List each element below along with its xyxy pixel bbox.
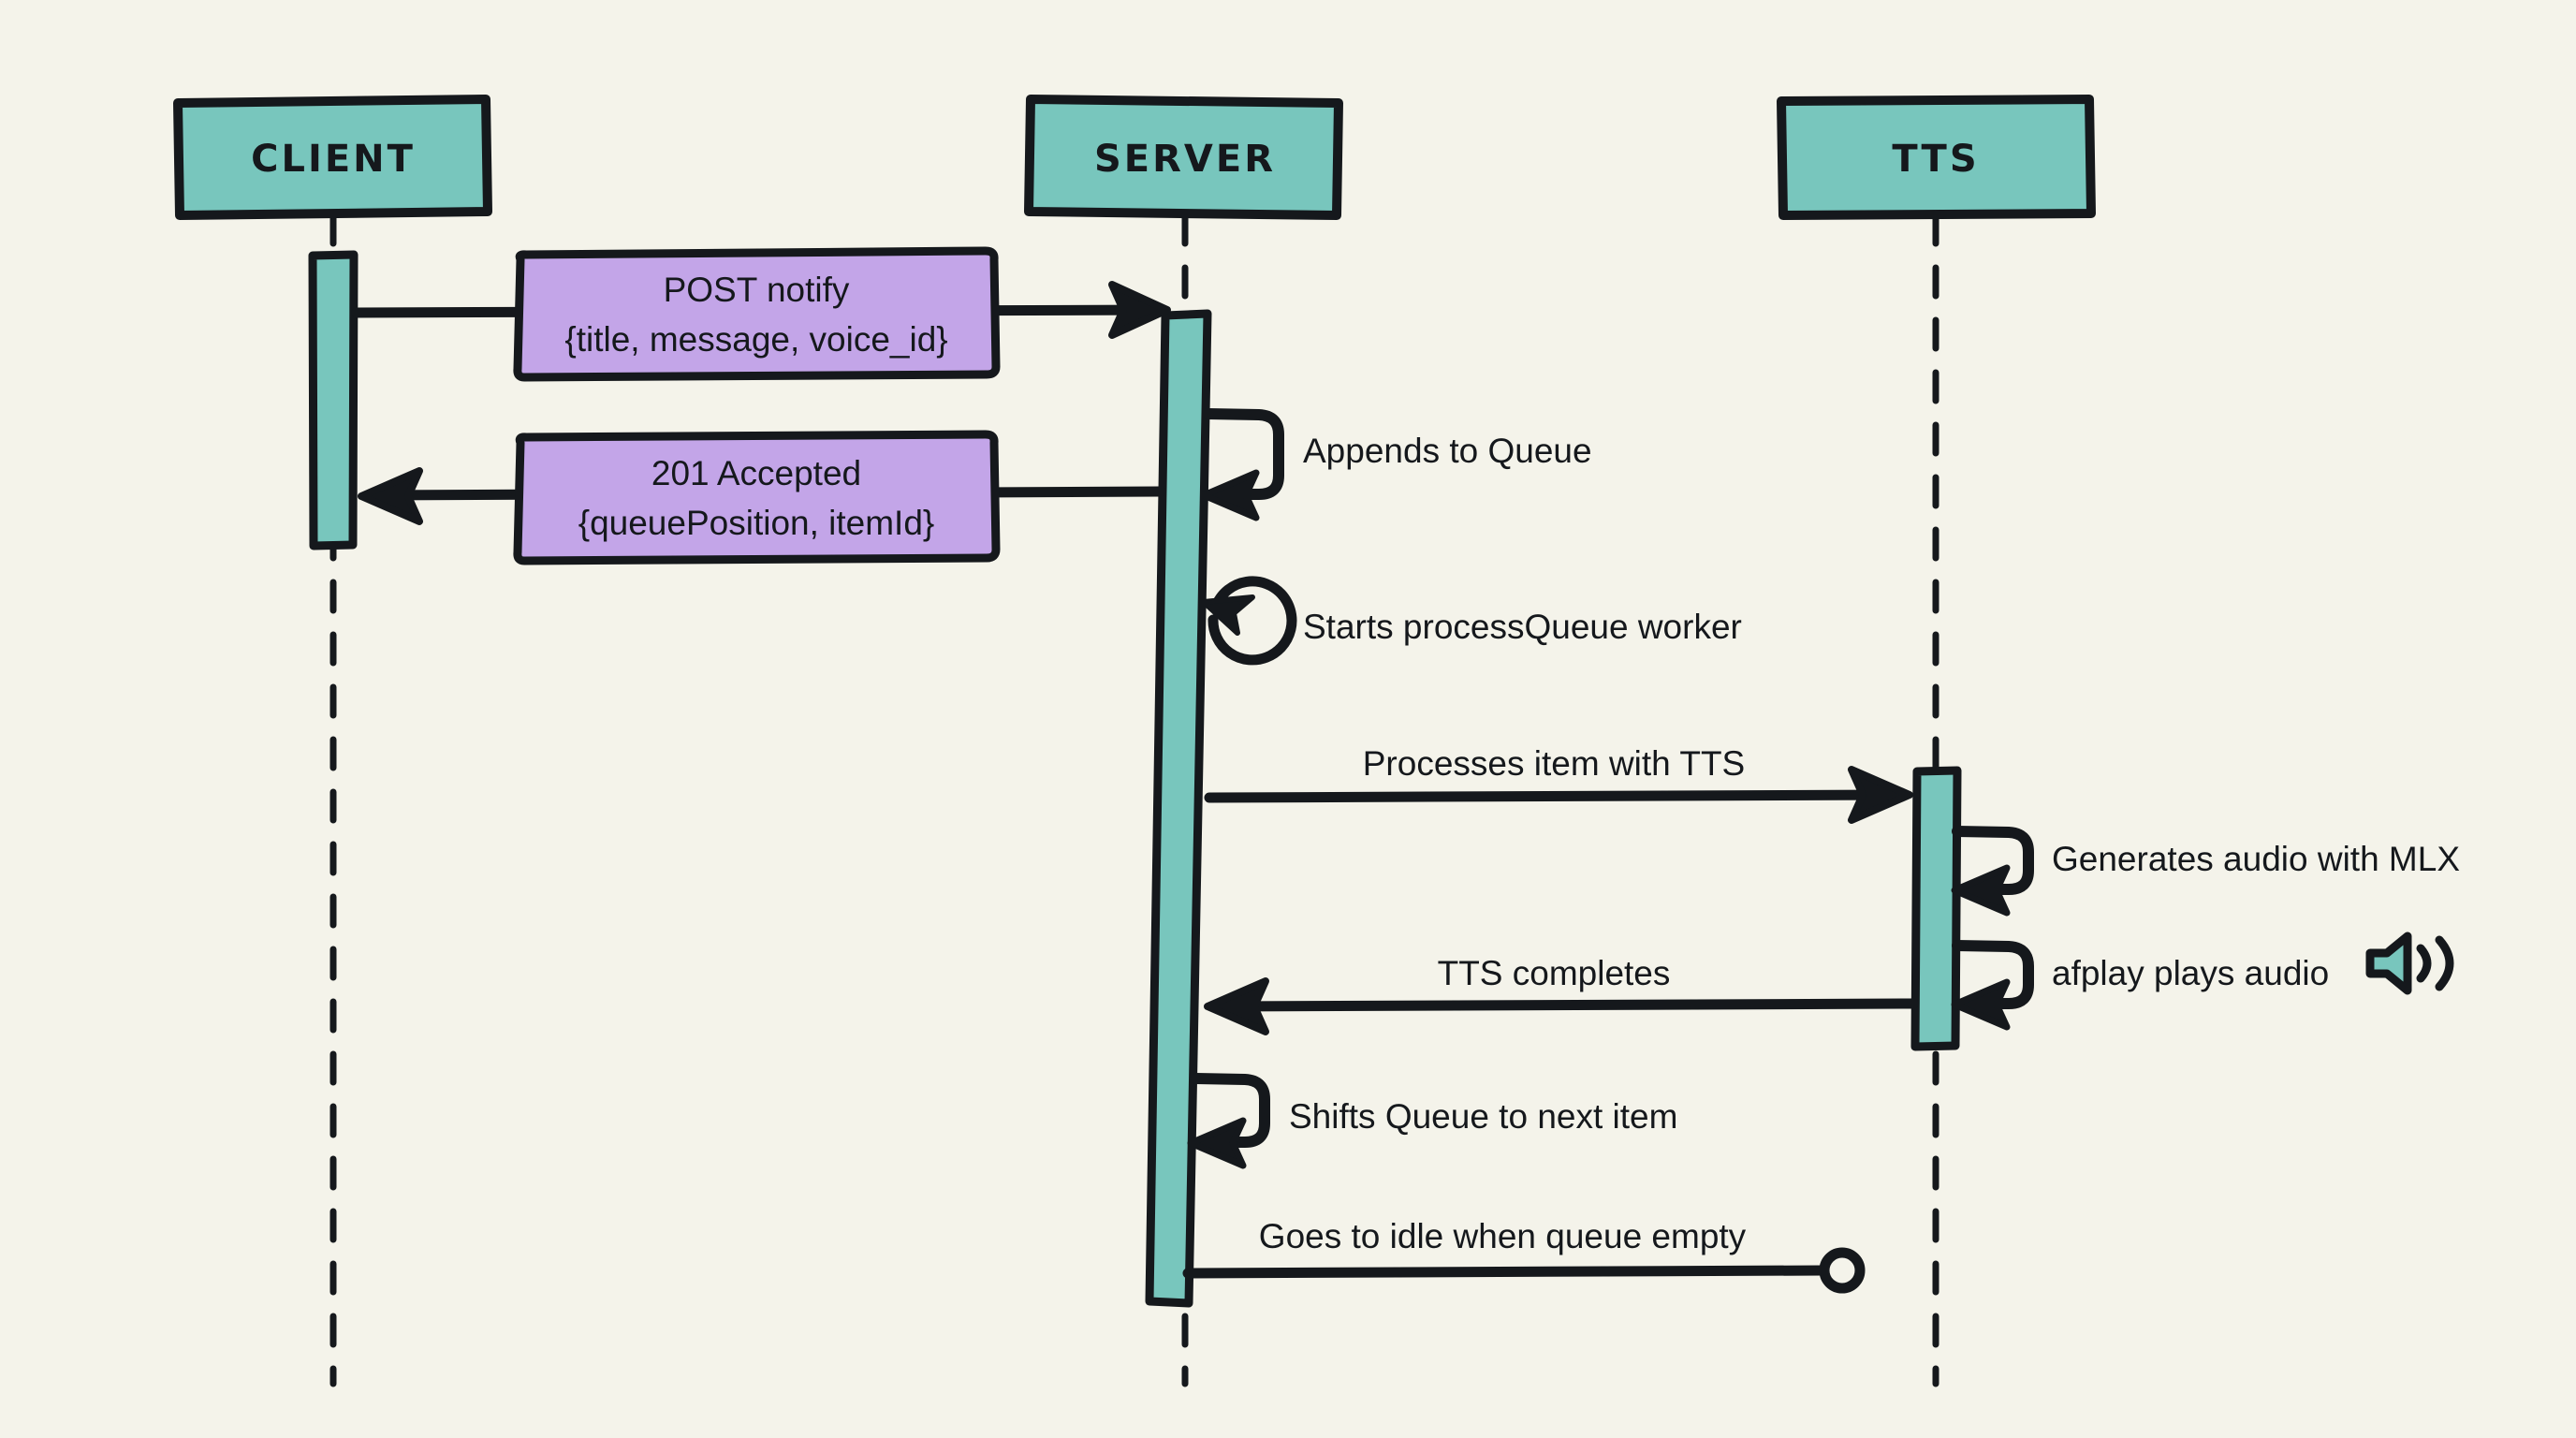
arrowhead-post-notify bbox=[1112, 285, 1167, 335]
participant-label-server: SERVER bbox=[1094, 138, 1276, 181]
message-label-tts-completes: TTS completes bbox=[1438, 954, 1671, 992]
speaker-icon bbox=[2370, 936, 2450, 990]
message-201-accepted[interactable]: 201 Accepted {queuePosition, itemId} bbox=[361, 434, 1161, 561]
lost-message-label-goes-to-idle: Goes to idle when queue empty bbox=[1259, 1217, 1747, 1255]
message-text-201-accepted-line2: {queuePosition, itemId} bbox=[578, 504, 935, 542]
self-message-appends-to-queue[interactable]: Appends to Queue bbox=[1204, 414, 1592, 518]
message-tts-completes[interactable]: TTS completes bbox=[1207, 954, 1913, 1032]
activation-bar-client bbox=[313, 255, 354, 546]
self-message-label-appends-to-queue: Appends to Queue bbox=[1303, 432, 1592, 470]
activation-bar-tts bbox=[1915, 770, 1957, 1047]
arrowhead-tts-completes bbox=[1207, 981, 1266, 1032]
arrowhead-shifts-queue-to-next-item bbox=[1191, 1121, 1243, 1166]
participant-label-client: CLIENT bbox=[251, 138, 416, 181]
message-line-tts-completes bbox=[1226, 1004, 1913, 1006]
message-processes-item-with-tts[interactable]: Processes item with TTS bbox=[1209, 744, 1910, 820]
self-message-label-starts-processqueue-worker: Starts processQueue worker bbox=[1303, 608, 1742, 646]
arrowhead-processes-item-with-tts bbox=[1851, 770, 1910, 820]
arrowhead-appends-to-queue bbox=[1204, 473, 1256, 518]
message-text-201-accepted-line1: 201 Accepted bbox=[651, 454, 861, 492]
self-message-label-shifts-queue-to-next-item: Shifts Queue to next item bbox=[1289, 1097, 1677, 1136]
message-post-notify[interactable]: POST notify {title, message, voice_id} bbox=[357, 251, 1167, 377]
sequence-diagram-canvas: CLIENT SERVER TTS POST notify {title, me… bbox=[0, 0, 2576, 1438]
diagram-svg: CLIENT SERVER TTS POST notify {title, me… bbox=[0, 0, 2576, 1438]
message-line-processes-item-with-tts bbox=[1209, 795, 1893, 798]
participant-client[interactable]: CLIENT bbox=[178, 99, 488, 215]
activation-bar-server bbox=[1149, 314, 1207, 1303]
self-message-label-generates-audio-with-mlx: Generates audio with MLX bbox=[2052, 840, 2460, 878]
message-text-post-notify-line1: POST notify bbox=[664, 271, 850, 309]
self-message-shifts-queue-to-next-item[interactable]: Shifts Queue to next item bbox=[1191, 1078, 1677, 1166]
arrowhead-generates-audio-with-mlx bbox=[1954, 868, 2007, 913]
lost-message-goes-to-idle[interactable]: Goes to idle when queue empty bbox=[1188, 1217, 1860, 1288]
self-message-generates-audio-with-mlx[interactable]: Generates audio with MLX bbox=[1954, 831, 2460, 913]
message-label-processes-item-with-tts: Processes item with TTS bbox=[1363, 744, 1745, 783]
participant-label-tts: TTS bbox=[1892, 138, 1979, 181]
self-message-label-afplay-plays-audio: afplay plays audio bbox=[2052, 954, 2329, 992]
self-message-starts-processqueue-worker[interactable]: Starts processQueue worker bbox=[1204, 581, 1742, 660]
arrowhead-afplay-plays-audio bbox=[1954, 982, 2007, 1027]
arrowhead-201-accepted bbox=[361, 471, 419, 521]
lost-message-terminator-goes-to-idle bbox=[1824, 1253, 1860, 1288]
message-text-post-notify-line2: {title, message, voice_id} bbox=[564, 320, 947, 359]
participant-tts[interactable]: TTS bbox=[1781, 99, 2091, 215]
lost-message-line-goes-to-idle bbox=[1188, 1270, 1823, 1273]
participant-server[interactable]: SERVER bbox=[1029, 99, 1339, 215]
self-message-afplay-plays-audio[interactable]: afplay plays audio bbox=[1954, 936, 2450, 1027]
